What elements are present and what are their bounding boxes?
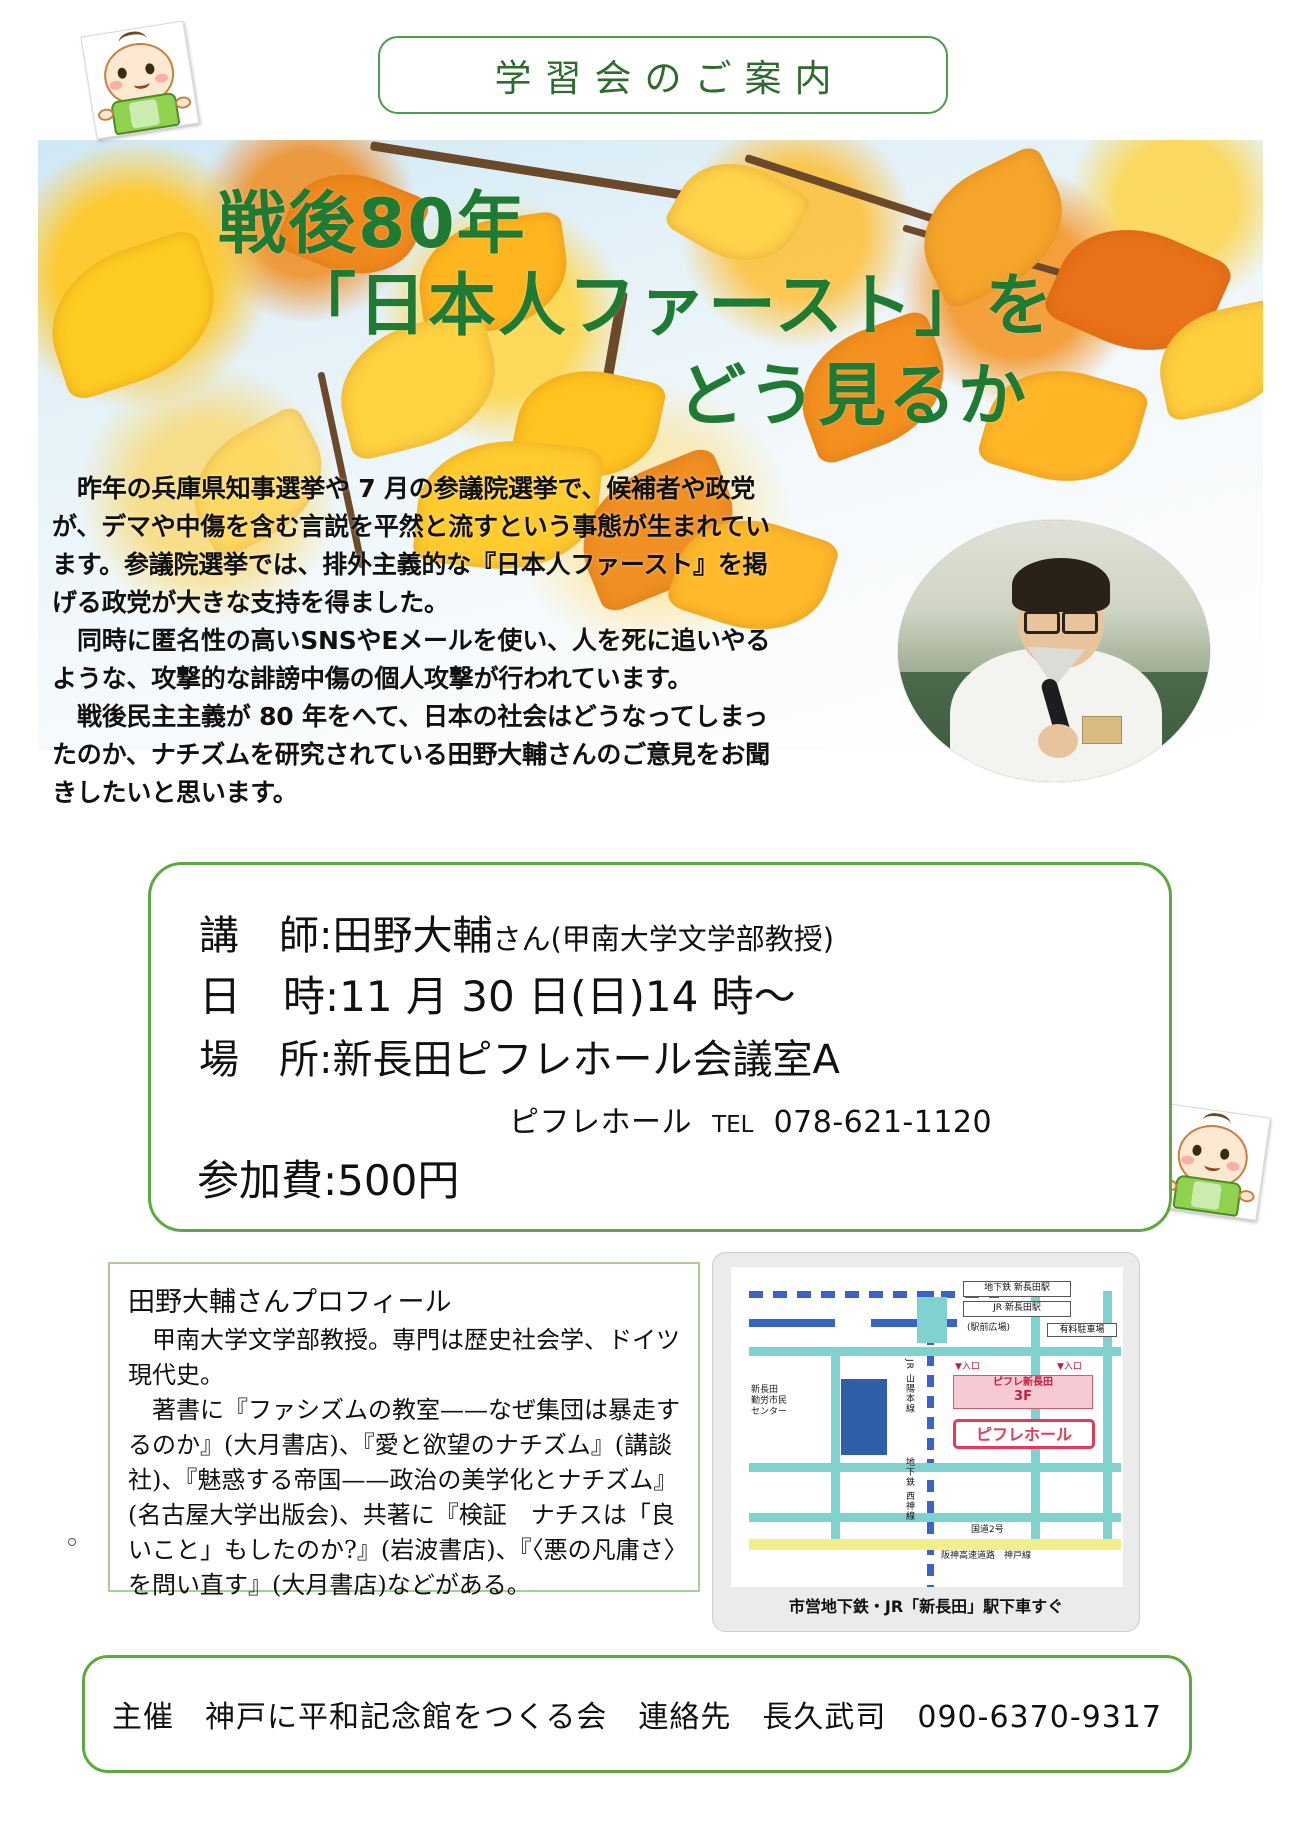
detail-fee: 参加費:500円 bbox=[197, 1147, 459, 1208]
pifre-building-name: ピフレ新長田 bbox=[954, 1376, 1092, 1390]
paid-parking-label: 有料駐車場 bbox=[1047, 1323, 1117, 1337]
page-title: 学習会のご案内 bbox=[482, 48, 845, 102]
detail-datetime: 日 時:11 月 30 日(日)14 時〜 bbox=[199, 963, 796, 1024]
road-horizontal bbox=[749, 1347, 1121, 1356]
jr-station-label: JR 新長田駅 bbox=[963, 1301, 1071, 1317]
bullet-dot-icon bbox=[68, 1538, 76, 1546]
jr-rail-line bbox=[749, 1319, 835, 1327]
community-center-label: 新長田 勤労市民 センター bbox=[751, 1385, 787, 1418]
pifre-building-label: ピフレ新長田 3F bbox=[953, 1375, 1093, 1409]
footer-box: 主催 神戸に平和記念館をつくる会 連絡先 長久武司 090-6370-9317 bbox=[82, 1655, 1192, 1773]
intro-paragraph-3: 戦後民主主義が 80 年をへて、日本の社会はどうなってしまったのか、ナチズムを研… bbox=[52, 698, 792, 812]
leaf-decoration bbox=[975, 351, 1150, 500]
profile-paragraph-1: 甲南大学文学部教授。専門は歴史社会学、ドイツ現代史。 bbox=[128, 1323, 680, 1393]
subway-rail-line bbox=[749, 1291, 999, 1298]
station-plaza-label: (駅前広場) bbox=[967, 1323, 1010, 1334]
glasses-icon bbox=[1024, 608, 1098, 626]
detail-lecturer-label: 講 師: bbox=[199, 913, 332, 959]
subway-rail-label: 地下鉄 西神線 bbox=[903, 1457, 914, 1531]
leaf-decoration bbox=[326, 307, 510, 462]
mascot-arm-right bbox=[1238, 1189, 1256, 1203]
photo-hair bbox=[1012, 558, 1110, 612]
station-block bbox=[917, 1297, 947, 1343]
subway-station-label: 地下鉄 新長田駅 bbox=[963, 1281, 1071, 1297]
map-canvas: 地下鉄 新長田駅 JR 新長田駅 有料駐車場 (駅前広場) ▼入口 ▼入口 ピフ… bbox=[731, 1267, 1123, 1587]
mascot-hair bbox=[1201, 1111, 1231, 1133]
building-block bbox=[841, 1379, 887, 1455]
event-details-box: 講 師:田野大輔さん(甲南大学文学部教授) 日 時:11 月 30 日(日)14… bbox=[148, 862, 1172, 1232]
road-horizontal bbox=[749, 1513, 1121, 1522]
telephone-icon: TEL bbox=[712, 1112, 753, 1138]
mascot-body-trim bbox=[128, 99, 160, 129]
profile-body: 甲南大学文学部教授。専門は歴史社会学、ドイツ現代史。 著書に『ファシズムの教室—… bbox=[128, 1323, 680, 1603]
mascot-arm-right bbox=[174, 95, 192, 109]
detail-tel-venue: ピフレホール bbox=[509, 1105, 692, 1140]
speaker-photo bbox=[898, 520, 1210, 782]
detail-lecturer: 講 師:田野大輔さん(甲南大学文学部教授) bbox=[199, 903, 834, 961]
photo-hand bbox=[1038, 724, 1078, 758]
jr-rail-label: JR 山陽本線 bbox=[903, 1359, 914, 1429]
page-title-box: 学習会のご案内 bbox=[378, 36, 948, 114]
road-vertical bbox=[831, 1347, 840, 1547]
access-map: 地下鉄 新長田駅 JR 新長田駅 有料駐車場 (駅前広場) ▼入口 ▼入口 ピフ… bbox=[712, 1252, 1140, 1632]
intro-paragraphs: 昨年の兵庫県知事選挙や 7 月の参議院選挙で、候補者や政党が、デマや中傷を含む言… bbox=[52, 470, 792, 812]
detail-lecturer-suffix: さん(甲南大学文学部教授) bbox=[492, 922, 834, 956]
road-horizontal bbox=[749, 1463, 1121, 1472]
route-2-highway bbox=[749, 1539, 1121, 1550]
profile-box: 田野大輔さんプロフィール 甲南大学文学部教授。専門は歴史社会学、ドイツ現代史。 … bbox=[108, 1262, 700, 1592]
detail-telephone: ピフレホール TEL 078-621-1120 bbox=[509, 1097, 992, 1141]
baby-mascot-icon bbox=[81, 21, 200, 140]
photo-badge bbox=[1082, 716, 1122, 744]
detail-lecturer-name: 田野大輔 bbox=[332, 913, 492, 959]
profile-title: 田野大輔さんプロフィール bbox=[128, 1280, 680, 1319]
leaf-decoration bbox=[274, 153, 432, 294]
leaf-decoration bbox=[38, 227, 234, 403]
entrance-left-label: ▼入口 bbox=[955, 1359, 980, 1372]
hanshin-line-label: 阪神高速道路 神戸線 bbox=[941, 1551, 1031, 1562]
mascot-body-trim bbox=[1191, 1181, 1222, 1211]
intro-paragraph-2: 同時に匿名性の高いSNSやEメールを使い、人を死に追いやるような、攻撃的な誹謗中… bbox=[52, 622, 792, 698]
intro-paragraph-1: 昨年の兵庫県知事選挙や 7 月の参議院選挙で、候補者や政党が、デマや中傷を含む言… bbox=[52, 470, 792, 622]
profile-paragraph-2: 著書に『ファシズムの教室——なぜ集団は暴走するのか』(大月書店)、『愛と欲望のナ… bbox=[128, 1393, 680, 1603]
detail-tel-number: 078-621-1120 bbox=[774, 1105, 993, 1140]
route-2-label: 国道2号 bbox=[971, 1525, 1004, 1536]
pifre-building-floor: 3F bbox=[954, 1390, 1092, 1404]
entrance-right-label: ▼入口 bbox=[1057, 1359, 1082, 1372]
detail-place: 場 所:新長田ピフレホール会議室A bbox=[199, 1027, 840, 1085]
leaf-decoration bbox=[662, 140, 814, 283]
leaf-decoration bbox=[783, 308, 963, 467]
map-caption: 市営地下鉄・JR「新長田」駅下車すぐ bbox=[713, 1593, 1139, 1617]
organizer-contact-text: 主催 神戸に平和記念館をつくる会 連絡先 長久武司 090-6370-9317 bbox=[112, 1692, 1162, 1736]
pifre-hall-marker: ピフレホール bbox=[953, 1419, 1095, 1449]
